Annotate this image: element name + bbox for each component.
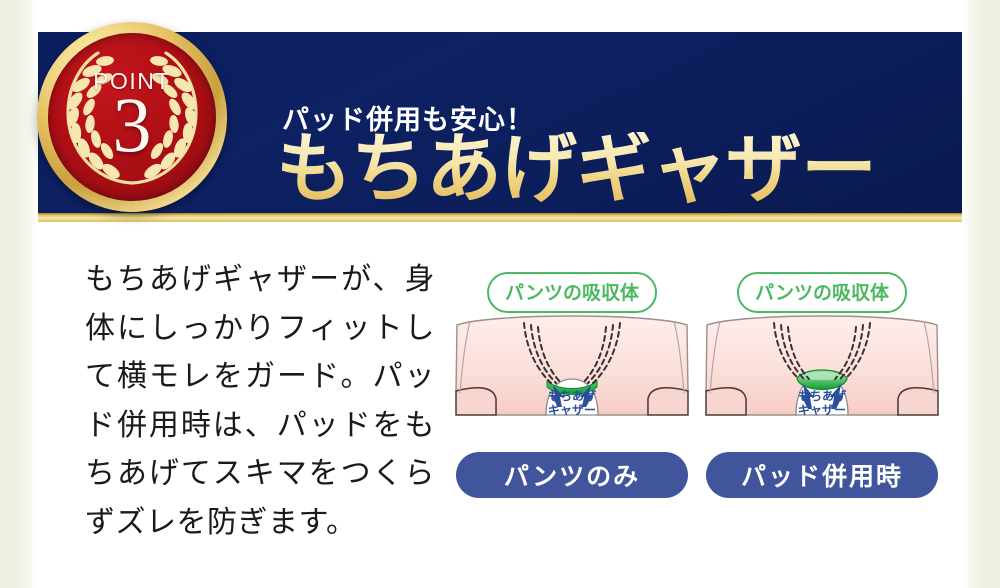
page-right-edge-strip xyxy=(962,0,1000,588)
gather-callout-2: もちあげ ギャザー xyxy=(798,390,846,418)
promo-page: パッド併用も安心！ もちあげギャザー xyxy=(0,0,1000,588)
gather-callout-line1: もちあげ xyxy=(798,390,846,404)
banner-gold-underline xyxy=(38,213,962,222)
banner-title: もちあげギャザー xyxy=(276,132,876,208)
gather-callout-line2: ギャザー xyxy=(798,404,846,418)
button-pants-only[interactable]: パンツのみ xyxy=(456,452,688,498)
panel-pad-combined: パンツの吸収体 xyxy=(702,262,942,502)
button-pad-combined[interactable]: パッド併用時 xyxy=(706,452,938,498)
gather-callout-line1: もちあげ xyxy=(548,390,596,404)
pad-combined-illustration xyxy=(702,307,942,447)
gather-callout-1: もちあげ ギャザー xyxy=(548,390,596,418)
page-left-edge-strip xyxy=(0,0,38,588)
panel-pants-only: パンツの吸収体 xyxy=(452,262,692,502)
point-medal: POINT 3 xyxy=(37,22,227,212)
comparison-panels: パンツの吸収体 xyxy=(452,262,952,502)
gather-callout-line2: ギャザー xyxy=(548,404,596,418)
pants-only-illustration xyxy=(452,307,692,447)
body-description: もちあげギャザーが、身体にしっかりフィットして横モレをガード。パッド併用時は、パ… xyxy=(85,256,435,548)
medal-point-number: 3 xyxy=(37,86,227,164)
